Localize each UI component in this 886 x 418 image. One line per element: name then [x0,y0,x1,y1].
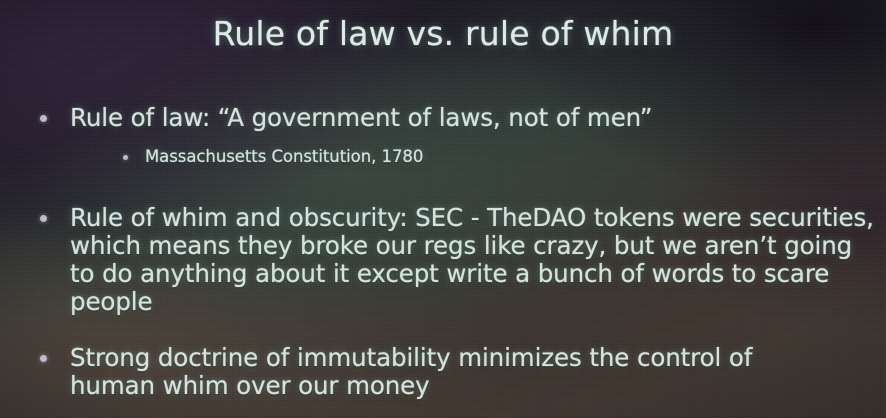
slide-title: Rule of law vs. rule of whim [0,14,886,53]
bullet-item-immutability: Strong doctrine of immutability minimize… [34,344,840,400]
sub-bullet-item-citation: Massachusetts Constitution, 1780 [118,147,423,167]
bullet-dot-icon [40,215,47,222]
bullet-text: Rule of whim and obscurity: SEC - TheDAO… [70,203,874,316]
bullet-item-rule-of-law: Rule of law: “A government of laws, not … [34,104,840,132]
slide-content: Rule of law vs. rule of whim Rule of law… [0,0,886,418]
bullet-text: Rule of law: “A government of laws, not … [70,103,652,132]
bullet-item-rule-of-whim: Rule of whim and obscurity: SEC - TheDAO… [34,204,878,316]
presentation-slide: Rule of law vs. rule of whim Rule of law… [0,0,886,418]
bullet-dot-icon [40,115,47,122]
bullet-text: Strong doctrine of immutability minimize… [70,343,752,400]
sub-bullet-dot-icon [123,155,128,160]
sub-bullet-text: Massachusetts Constitution, 1780 [145,147,423,166]
bullet-dot-icon [40,355,47,362]
